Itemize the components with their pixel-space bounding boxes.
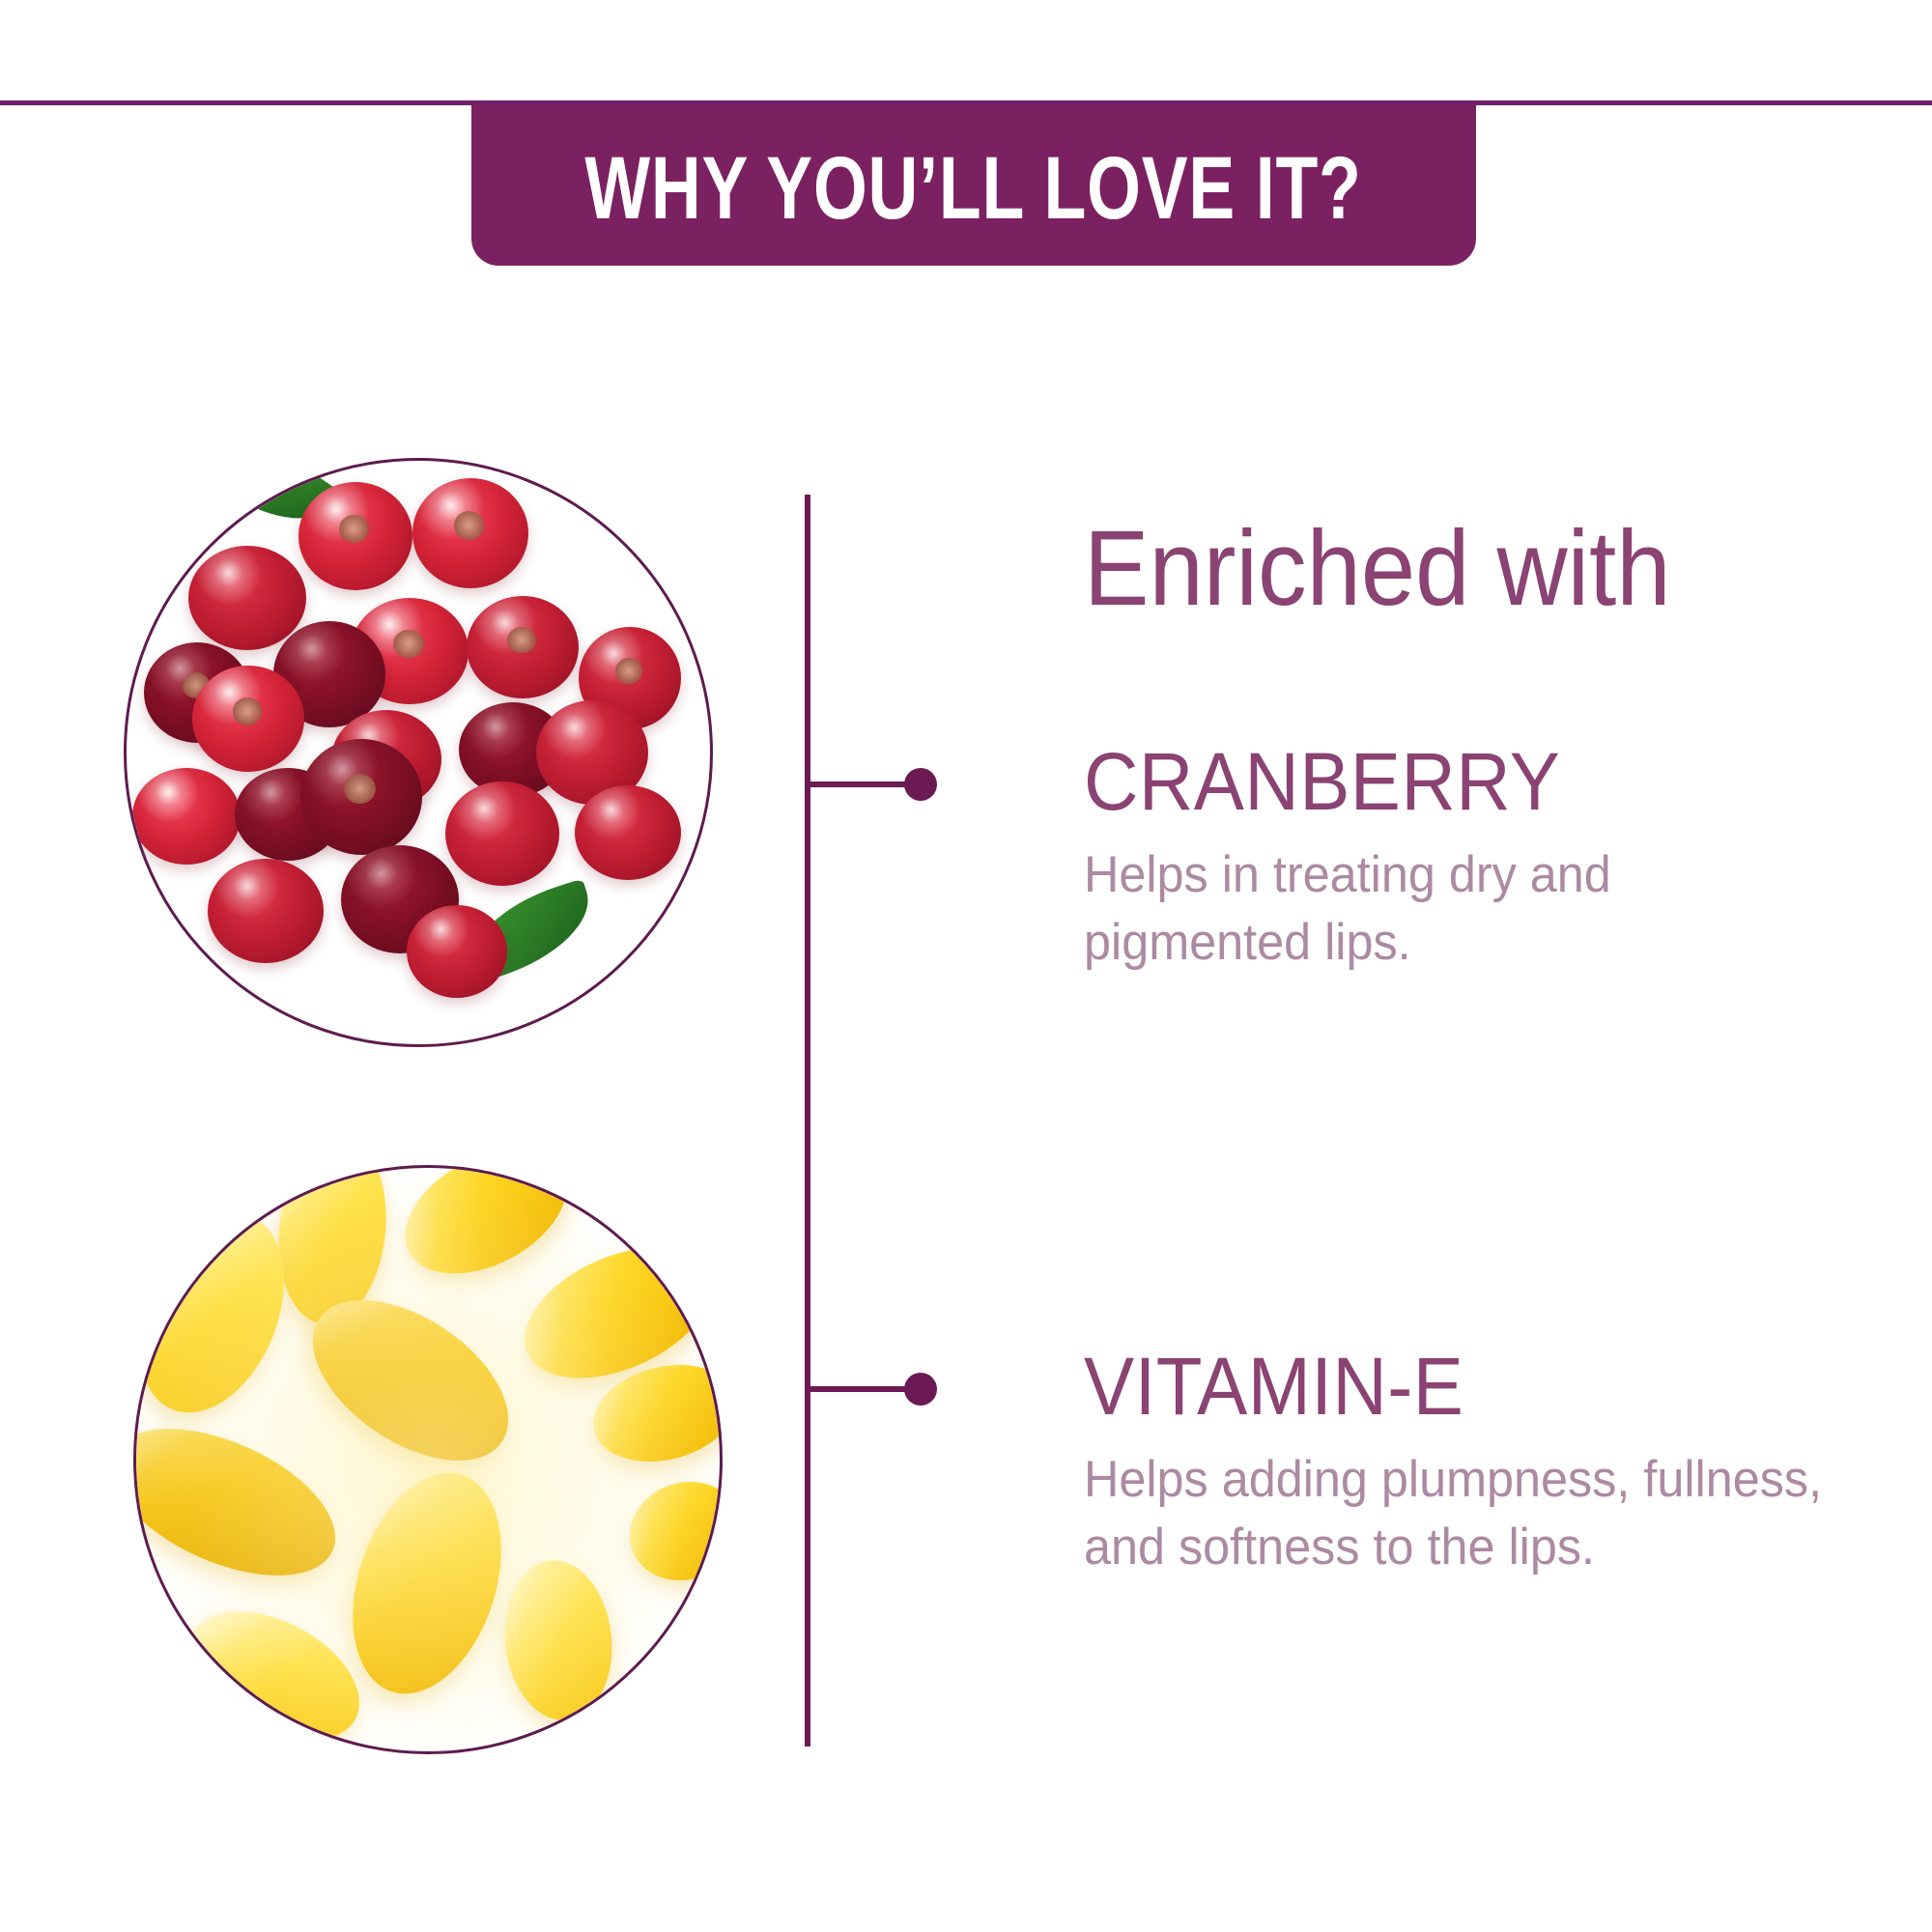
berry — [298, 482, 412, 590]
connector-vertical-line — [805, 495, 810, 1747]
ingredient-name-cranberry: CRANBERRY — [1084, 740, 1803, 824]
capsule — [615, 1466, 720, 1596]
ingredient-description-cranberry: Helps in treating dry and pigmented lips… — [1084, 841, 1836, 977]
ingredient-image-vitamin-e — [133, 1165, 723, 1754]
page-title: WHY YOU’LL LOVE IT? — [585, 144, 1362, 233]
connector-dot-cranberry — [904, 768, 937, 801]
ingredient-name-vitamin-e: VITAMIN-E — [1084, 1345, 1803, 1429]
capsule — [497, 1555, 620, 1726]
berry — [467, 596, 579, 698]
capsule — [327, 1454, 527, 1713]
section-lead-heading: Enriched with — [1084, 516, 1671, 622]
berry — [445, 781, 559, 886]
capsule — [168, 1585, 381, 1751]
ingredient-block-vitamin-e: VITAMIN-E Helps adding plumpness, fullne… — [1084, 1345, 1857, 1581]
connector-branch-vitamin-e — [805, 1386, 911, 1392]
berry — [412, 478, 528, 588]
header-banner: WHY YOU’LL LOVE IT? — [471, 104, 1476, 266]
cranberry-photo — [127, 461, 710, 1044]
capsule — [384, 1168, 588, 1299]
berry — [192, 666, 304, 772]
berry — [300, 739, 422, 855]
connector-dot-vitamin-e — [904, 1373, 937, 1406]
berry — [407, 905, 507, 998]
berry — [575, 785, 681, 880]
capsule — [136, 1399, 356, 1605]
connector-branch-cranberry — [805, 781, 911, 787]
ingredient-block-cranberry: CRANBERRY Helps in treating dry and pigm… — [1084, 740, 1857, 977]
ingredient-image-cranberry — [124, 458, 713, 1047]
berry — [208, 859, 324, 963]
ingredient-description-vitamin-e: Helps adding plumpness, fullness, and so… — [1084, 1446, 1836, 1581]
berry — [188, 546, 306, 650]
berry — [132, 768, 241, 865]
vitamin-e-photo — [136, 1168, 720, 1751]
